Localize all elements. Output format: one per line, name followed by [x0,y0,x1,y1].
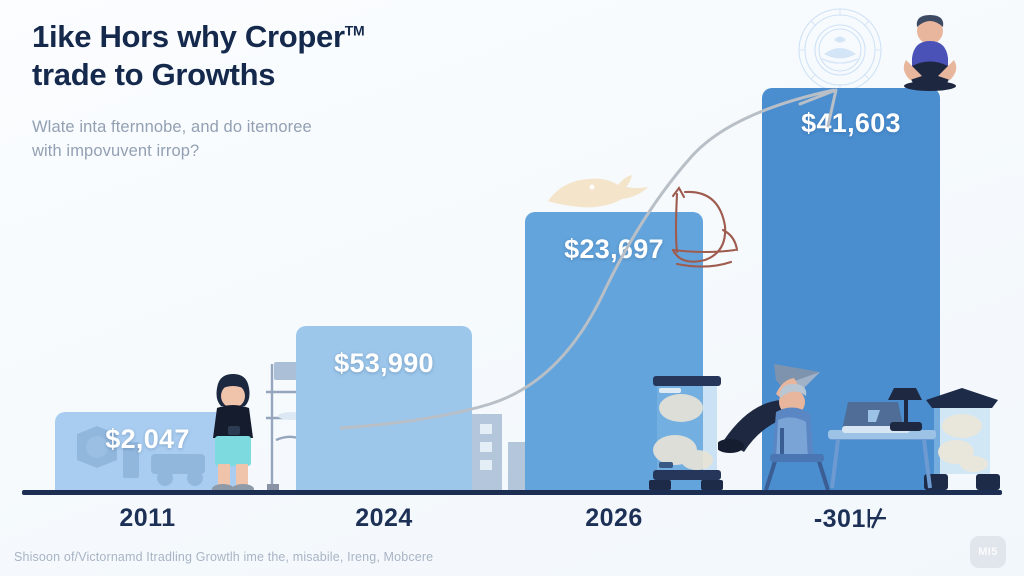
watermark-badge: MI5 [970,536,1006,568]
tick-label-2026: 2026 [525,504,703,533]
tick-label-2024: 2024 [296,504,472,533]
title-line-1: 1ike Hors why Croper [32,19,345,54]
bar-minus301 [762,88,940,492]
circular-seal-emblem [794,4,886,96]
title-line-2: trade to Growths [32,57,275,92]
page-subtitle: Wlate inta fternnobe, and do itemoree wi… [32,115,552,164]
headline-block: 1ike Hors why CroperTM trade to Growths … [32,18,552,164]
slide-canvas: $2,047 [0,0,1024,576]
bar-value-minus301: $41,603 [762,108,940,139]
subtitle-line-2: with impovuvent irrop? [32,142,199,160]
subtitle-line-1: Wlate inta fternnobe, and do itemoree [32,118,312,136]
cross-legged-person-illustration [888,14,972,92]
footer-note: Shisoon of/Victornamd Itradling Growtlh … [14,550,433,564]
trademark-symbol: TM [345,23,365,39]
axis-baseline [22,490,1002,495]
bar-value-2024: $53,990 [296,348,472,379]
page-title: 1ike Hors why CroperTM trade to Growths [32,18,552,95]
tick-label-minus301: -301⊬ [762,504,940,534]
bar-value-2011: $2,047 [55,424,240,455]
bar-value-2026: $23,697 [525,234,703,265]
tick-label-2011: 2011 [55,504,240,533]
